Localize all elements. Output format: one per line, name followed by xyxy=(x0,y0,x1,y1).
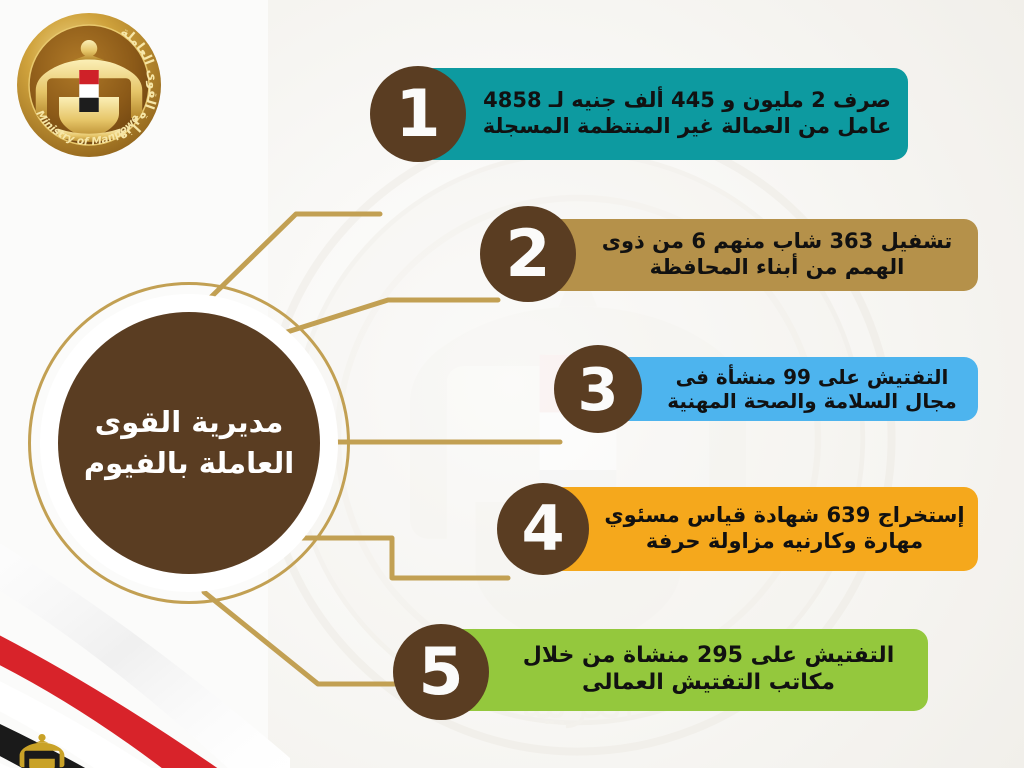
item-box-3[interactable]: التفتيش على 99 منشأة فى مجال السلامة وال… xyxy=(600,357,978,421)
item-badge-1[interactable]: 1 xyxy=(370,66,466,162)
item-number-2: 2 xyxy=(505,222,550,287)
item-text-1: صرف 2 مليون و 445 ألف جنيه لـ 4858 عامل … xyxy=(420,88,908,139)
item-text-3: التفتيش على 99 منشأة فى مجال السلامة وال… xyxy=(600,365,978,414)
item-number-4: 4 xyxy=(521,498,564,560)
item-badge-4[interactable]: 4 xyxy=(497,483,589,575)
item-badge-3[interactable]: 3 xyxy=(554,345,642,433)
item-text-5: التفتيش على 295 منشاة من خلال مكاتب التف… xyxy=(443,643,928,697)
infographic-root: العربية xyxy=(0,0,1024,768)
item-box-5[interactable]: التفتيش على 295 منشاة من خلال مكاتب التف… xyxy=(443,629,928,711)
central-hub: مديرية القوى العاملة بالفيوم xyxy=(28,282,350,604)
item-box-4[interactable]: إستخراج 639 شهادة قياس مسئوي مهارة وكارن… xyxy=(545,487,978,571)
item-badge-2[interactable]: 2 xyxy=(480,206,576,302)
hub-disc: مديرية القوى العاملة بالفيوم xyxy=(58,312,320,574)
item-number-3: 3 xyxy=(577,360,618,419)
ministry-of-manpower-logo: وزارة القوى العاملة Ministry of Manpower xyxy=(14,10,164,160)
item-number-5: 5 xyxy=(418,640,463,705)
item-text-2: تشفيل 363 شاب منهم 6 من ذوى الهمم من أبن… xyxy=(530,229,978,280)
item-text-4: إستخراج 639 شهادة قياس مسئوي مهارة وكارن… xyxy=(545,503,978,554)
item-box-2[interactable]: تشفيل 363 شاب منهم 6 من ذوى الهمم من أبن… xyxy=(530,219,978,291)
item-box-1[interactable]: صرف 2 مليون و 445 ألف جنيه لـ 4858 عامل … xyxy=(420,68,908,160)
item-badge-5[interactable]: 5 xyxy=(393,624,489,720)
hub-title: مديرية القوى العاملة بالفيوم xyxy=(62,402,316,484)
item-number-1: 1 xyxy=(395,82,440,147)
